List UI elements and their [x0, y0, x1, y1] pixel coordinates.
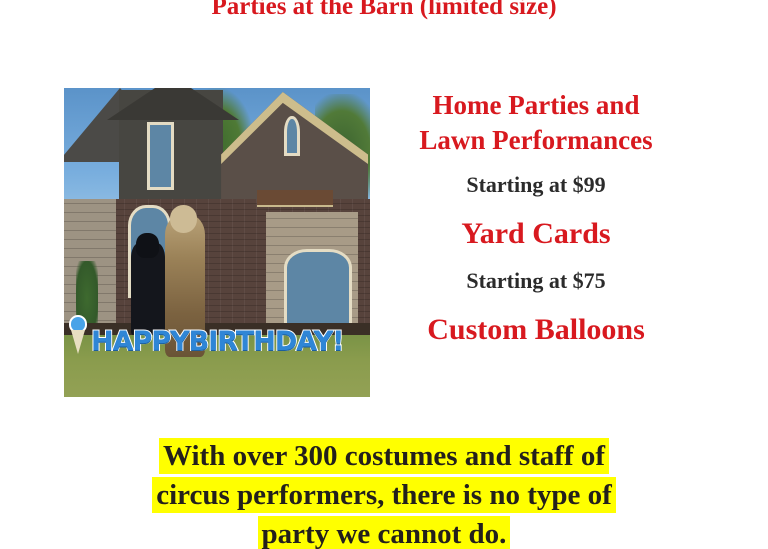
yard-sign-text: HAPPYBIRTHDAY!: [91, 328, 343, 355]
photo-chewbacca-head: [170, 205, 198, 233]
offer-headline-line-1: Home Parties and: [386, 88, 686, 123]
flyer-page: Parties at the Barn (limited size) HAPPY…: [0, 0, 768, 549]
offer-price-2: Starting at $75: [386, 266, 686, 296]
offer-service-3: Custom Balloons: [386, 310, 686, 350]
footer-line-2: circus performers, there is no type of: [152, 477, 616, 513]
yard-party-photo: HAPPYBIRTHDAY!: [64, 88, 370, 397]
spacer-1: [386, 158, 686, 170]
photo-dormer-window: [147, 122, 175, 190]
happy-birthday-yard-sign: HAPPYBIRTHDAY!: [67, 287, 367, 355]
photo-awning: [257, 190, 334, 207]
photo-arch-window: [284, 116, 299, 156]
footer-line-2-wrap: circus performers, there is no type of: [0, 476, 768, 515]
spacer-4: [386, 296, 686, 310]
spacer-3: [386, 254, 686, 266]
footer-line-1: With over 300 costumes and staff of: [159, 438, 609, 474]
offer-price-1: Starting at $99: [386, 170, 686, 200]
photo-dormer-roof: [107, 88, 239, 120]
offer-service-2: Yard Cards: [386, 214, 686, 254]
footer-line-1-wrap: With over 300 costumes and staff of: [0, 437, 768, 476]
page-title-text: Parties at the Barn (limited size): [211, 0, 556, 22]
offer-headline-line-2: Lawn Performances: [386, 123, 686, 158]
page-title: Parties at the Barn (limited size): [0, 0, 768, 22]
photo-darth-vader-helmet: [136, 233, 159, 258]
offers-column: Home Parties and Lawn Performances Start…: [386, 88, 686, 350]
ice-cream-cone-icon: [67, 315, 89, 355]
footer-statement: With over 300 costumes and staff of circ…: [0, 437, 768, 549]
footer-line-3: party we cannot do.: [258, 516, 511, 549]
footer-line-3-wrap: party we cannot do.: [0, 515, 768, 549]
spacer-2: [386, 200, 686, 214]
